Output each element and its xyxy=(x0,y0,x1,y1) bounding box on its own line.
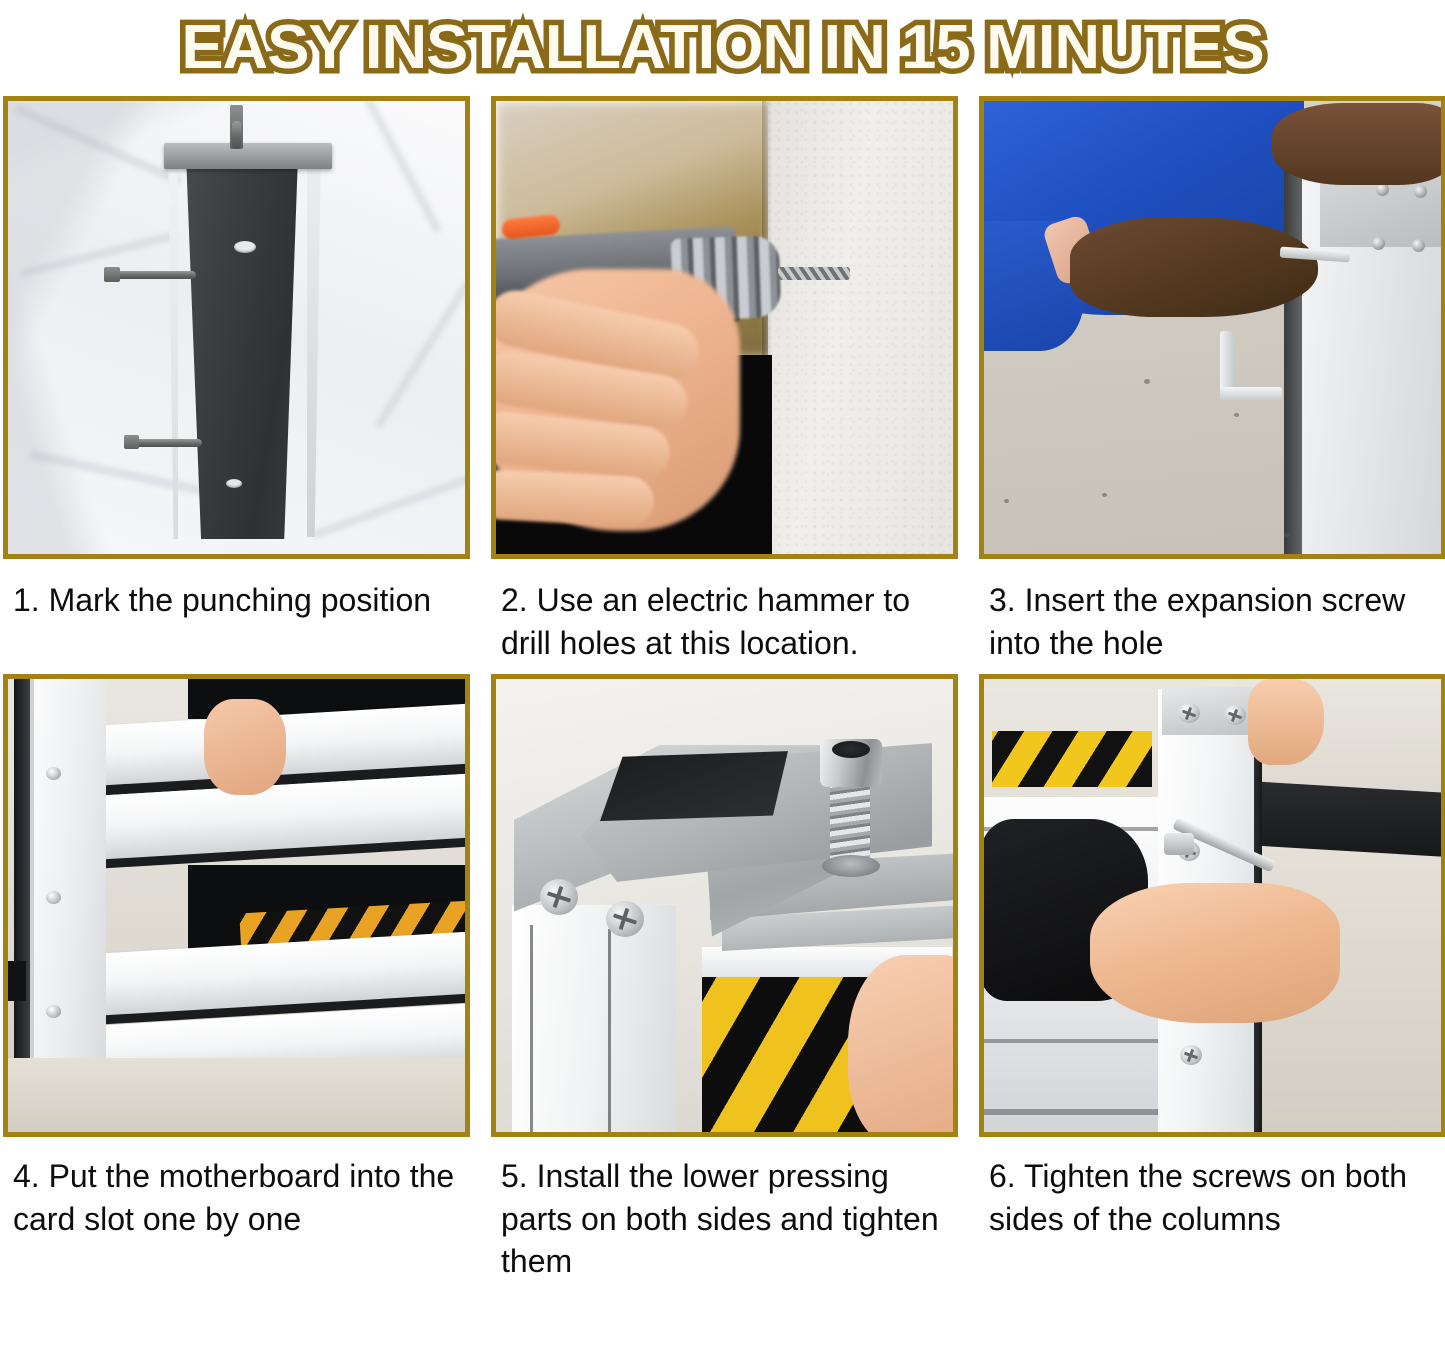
step-photo-6 xyxy=(984,679,1441,1132)
step-photo-2 xyxy=(496,101,953,554)
step-caption-6: 6. Tighten the screws on both sides of t… xyxy=(979,1137,1445,1240)
step-image-frame-1 xyxy=(3,96,470,559)
step-card-5: 5. Install the lower pressing parts on b… xyxy=(491,664,970,1283)
step-photo-3 xyxy=(984,101,1441,554)
step-card-2: 2. Use an electric hammer to drill holes… xyxy=(491,96,970,664)
steps-grid: 1. Mark the punching position 2. Use an … xyxy=(0,96,1445,1283)
step-card-1: 1. Mark the punching position xyxy=(3,96,482,664)
step-image-frame-5 xyxy=(491,674,958,1137)
step-card-4: 4. Put the motherboard into the card slo… xyxy=(3,664,482,1283)
step-photo-4 xyxy=(8,679,465,1132)
header-banner: EASY INSTALLATION IN 15 MINUTES xyxy=(0,0,1445,96)
step-image-frame-3 xyxy=(979,96,1445,559)
step-card-3: 3. Insert the expansion screw into the h… xyxy=(979,96,1445,664)
page-title: EASY INSTALLATION IN 15 MINUTES xyxy=(181,17,1263,79)
step-image-frame-4 xyxy=(3,674,470,1137)
step-photo-5 xyxy=(496,679,953,1132)
step-image-frame-6 xyxy=(979,674,1445,1137)
step-card-6: 6. Tighten the screws on both sides of t… xyxy=(979,664,1445,1283)
step-photo-1 xyxy=(8,101,465,554)
step-image-frame-2 xyxy=(491,96,958,559)
step-caption-3: 3. Insert the expansion screw into the h… xyxy=(979,559,1445,664)
step-caption-1: 1. Mark the punching position xyxy=(3,559,473,622)
step-caption-5: 5. Install the lower pressing parts on b… xyxy=(491,1137,961,1283)
step-caption-4: 4. Put the motherboard into the card slo… xyxy=(3,1137,473,1240)
step-caption-2: 2. Use an electric hammer to drill holes… xyxy=(491,559,961,664)
